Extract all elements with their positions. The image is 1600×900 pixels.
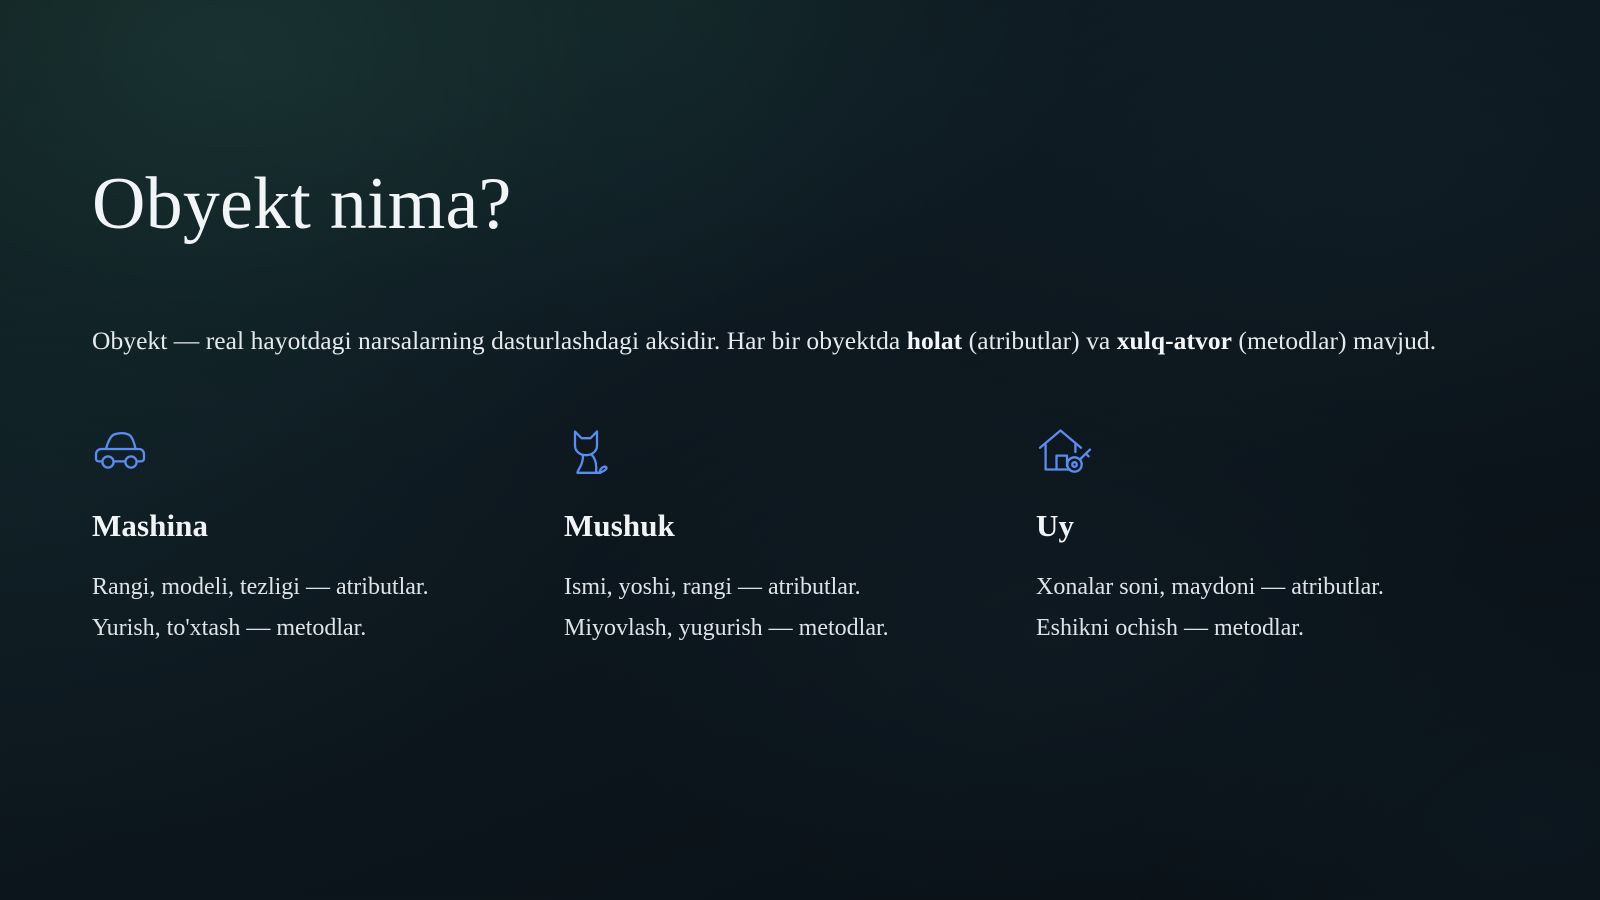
card-title: Mashina xyxy=(92,509,502,543)
card-description: Xonalar soni, maydoni — atributlar. Eshi… xyxy=(1036,567,1416,649)
page-title: Obyekt nima? xyxy=(92,167,512,241)
card-description: Rangi, modeli, tezligi — atributlar. Yur… xyxy=(92,567,502,649)
example-card-list: Mashina Rangi, modeli, tezligi — atribut… xyxy=(92,425,1512,649)
body-text: (atributlar) va xyxy=(962,326,1117,355)
body-text: (metodlar) mavjud. xyxy=(1232,326,1436,355)
example-card-mashina: Mashina Rangi, modeli, tezligi — atribut… xyxy=(92,425,564,649)
car-icon xyxy=(92,425,502,483)
example-card-mushuk: Mushuk Ismi, yoshi, rangi — atributlar. … xyxy=(564,425,1036,649)
emphasis-text: holat xyxy=(907,326,963,355)
example-card-uy: Uy Xonalar soni, maydoni — atributlar. E… xyxy=(1036,425,1508,649)
body-text: Obyekt — real hayotdagi narsalarning das… xyxy=(92,326,907,355)
lead-paragraph: Obyekt — real hayotdagi narsalarning das… xyxy=(92,320,1447,361)
house-key-icon xyxy=(1036,425,1446,483)
cat-icon xyxy=(564,425,974,483)
card-title: Mushuk xyxy=(564,509,974,543)
slide-content: Obyekt nima? Obyekt — real hayotdagi nar… xyxy=(0,0,1600,900)
card-description: Ismi, yoshi, rangi — atributlar. Miyovla… xyxy=(564,567,974,649)
card-title: Uy xyxy=(1036,509,1446,543)
emphasis-text: xulq-atvor xyxy=(1117,326,1232,355)
